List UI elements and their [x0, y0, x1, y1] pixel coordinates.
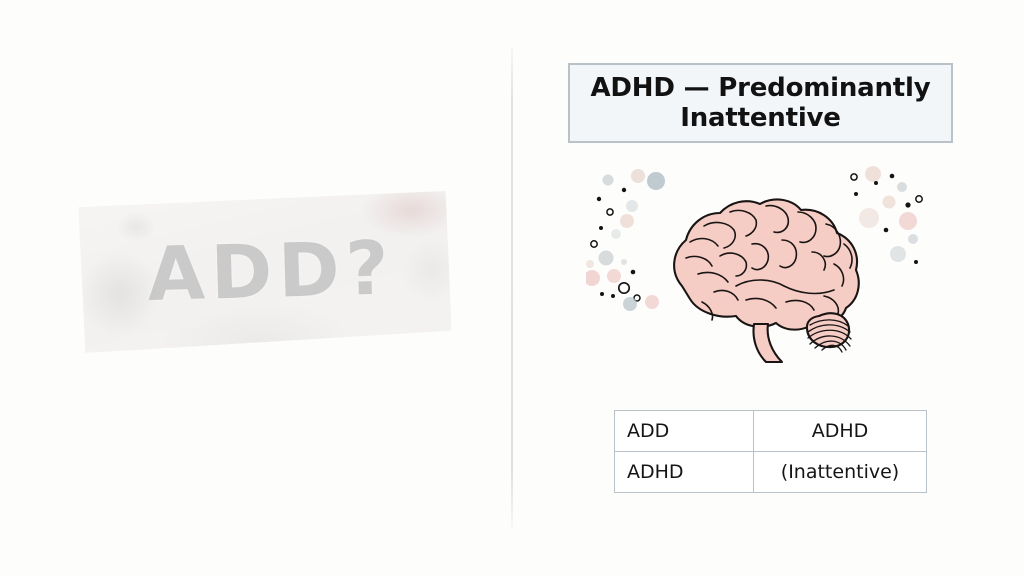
title-box: ADHD — Predominantly Inattentive [568, 63, 953, 143]
table-cell-term: ADD [615, 411, 754, 452]
table-row: ADHD (Inattentive) [615, 452, 927, 493]
add-watermark-graphic: ADD? [76, 191, 452, 353]
scatter-dots-right [851, 166, 922, 264]
right-panel: ADHD — Predominantly Inattentive [512, 0, 1024, 576]
page-title: ADHD — Predominantly Inattentive [570, 73, 951, 133]
left-panel: ADD? [0, 0, 511, 576]
table-cell-equivalent: ADHD [754, 411, 927, 452]
scatter-dots-left [586, 169, 665, 311]
slide-canvas: ADD? ADHD — Predominantly Inattentive [0, 0, 1024, 576]
brain-illustration [586, 166, 926, 366]
table-cell-term: ADHD [615, 452, 754, 493]
table-cell-equivalent: (Inattentive) [754, 452, 927, 493]
comparison-table: ADD ADHD ADHD (Inattentive) [614, 410, 927, 493]
add-watermark-text: ADD? [76, 191, 452, 353]
table-row: ADD ADHD [615, 411, 927, 452]
